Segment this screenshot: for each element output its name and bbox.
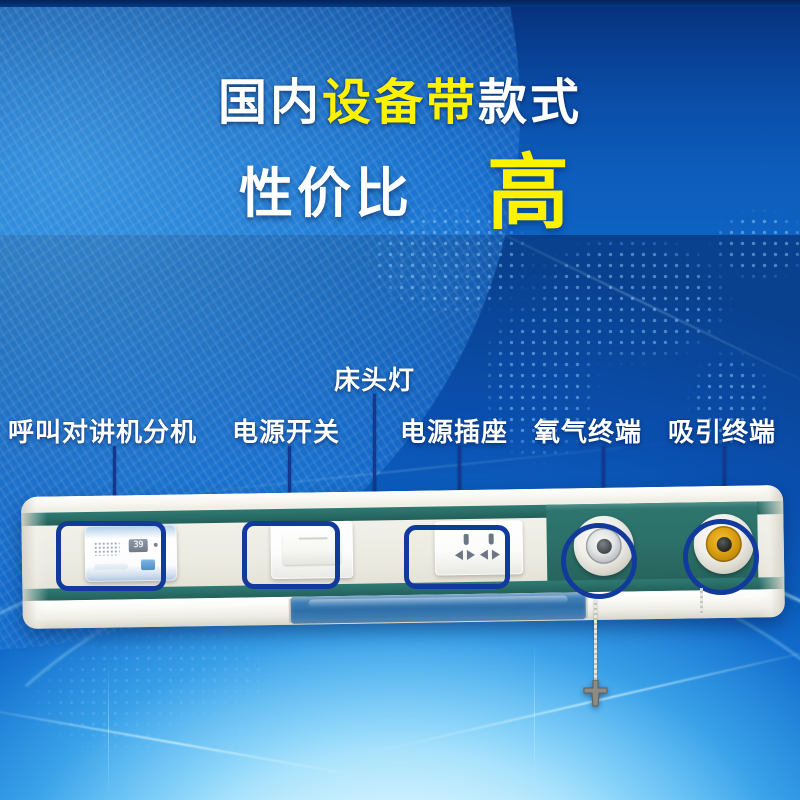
headline-value-ratio: 性价比 bbox=[239, 167, 413, 221]
rail-seam-right bbox=[586, 594, 588, 618]
panel-endcap-right bbox=[757, 485, 785, 617]
pull-cord-handle-icon[interactable] bbox=[583, 680, 608, 707]
callout-label-intercom: 呼叫对讲机分机 bbox=[8, 412, 197, 449]
highlight-intercom bbox=[56, 521, 166, 591]
headline-line-2: 性价比 高 bbox=[0, 153, 800, 235]
headline-line1-part2: 款式 bbox=[478, 74, 582, 131]
highlight-power-switch bbox=[242, 521, 340, 589]
background-top-edge bbox=[0, 0, 800, 7]
pull-cord-secondary[interactable] bbox=[700, 588, 703, 614]
dotted-world-map-secondary bbox=[0, 620, 420, 800]
headline-line1-highlight: 设备带 bbox=[322, 74, 478, 131]
vertical-light-line-1 bbox=[534, 640, 535, 800]
callout-label-bedside-lamp: 床头灯 bbox=[334, 360, 415, 397]
vertical-light-line-2 bbox=[108, 660, 109, 800]
panel-endcap-left bbox=[21, 497, 49, 629]
headline-block: 国内设备带款式 性价比 高 bbox=[0, 78, 800, 235]
callout-label-power-switch: 电源开关 bbox=[232, 412, 340, 449]
callout-label-oxygen-outlet: 氧气终端 bbox=[534, 412, 642, 449]
bedside-lamp-cover[interactable] bbox=[291, 592, 586, 624]
headline-line-1: 国内设备带款式 bbox=[0, 78, 800, 127]
nurse-call-pull-cord[interactable] bbox=[594, 600, 597, 686]
callout-label-power-socket: 电源插座 bbox=[400, 412, 508, 449]
highlight-suction-outlet bbox=[683, 519, 759, 595]
callout-label-suction-outlet: 吸引终端 bbox=[668, 412, 776, 449]
headline-value-high: 高 bbox=[487, 153, 571, 235]
highlight-oxygen-outlet bbox=[561, 523, 637, 599]
headline-line1-part1: 国内 bbox=[218, 74, 322, 131]
highlight-power-socket bbox=[404, 525, 510, 589]
